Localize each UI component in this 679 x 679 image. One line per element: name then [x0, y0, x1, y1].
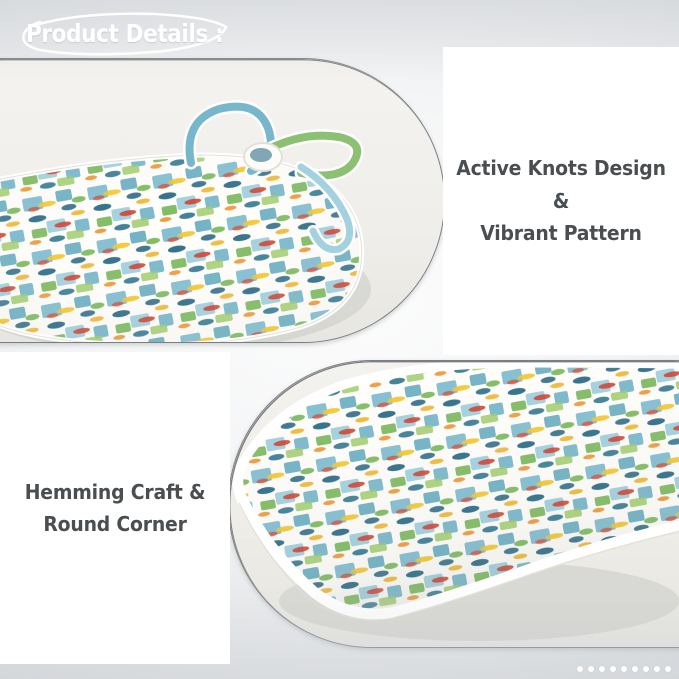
page-title-text: Product Details : [26, 19, 223, 48]
carousel-dot[interactable] [621, 666, 627, 672]
caption-text-hemming-craft: Hemming Craft & Round Corner [25, 476, 206, 541]
product-details-stage: Active Knots Design & Vibrant Pattern He… [0, 0, 679, 679]
cushion-with-knot-ties-photo[interactable] [0, 58, 445, 343]
caption-text-active-knots: Active Knots Design & Vibrant Pattern [450, 152, 672, 249]
carousel-dots[interactable] [577, 666, 671, 672]
cushion-knot-illustration [0, 59, 444, 342]
carousel-dot[interactable] [643, 666, 649, 672]
carousel-dot[interactable] [632, 666, 638, 672]
carousel-dot[interactable] [588, 666, 594, 672]
page-title: Product Details : [14, 10, 244, 58]
caption-line-2: Round Corner [43, 512, 186, 536]
caption-line-1: Hemming Craft & [25, 480, 206, 504]
carousel-dot[interactable] [654, 666, 660, 672]
caption-line-1: Active Knots Design & [456, 156, 666, 212]
caption-card-hemming-craft: Hemming Craft & Round Corner [0, 352, 230, 664]
caption-card-active-knots: Active Knots Design & Vibrant Pattern [443, 47, 679, 355]
caption-line-2: Vibrant Pattern [480, 221, 642, 245]
carousel-dot[interactable] [610, 666, 616, 672]
photo-bottom-inner [229, 361, 679, 647]
cushion-rounded-corner-hem-photo[interactable] [228, 360, 679, 648]
carousel-dot[interactable] [599, 666, 605, 672]
carousel-dot[interactable] [665, 666, 671, 672]
cushion-corner-illustration [229, 361, 679, 647]
photo-top-inner [0, 59, 444, 342]
carousel-dot[interactable] [577, 666, 583, 672]
